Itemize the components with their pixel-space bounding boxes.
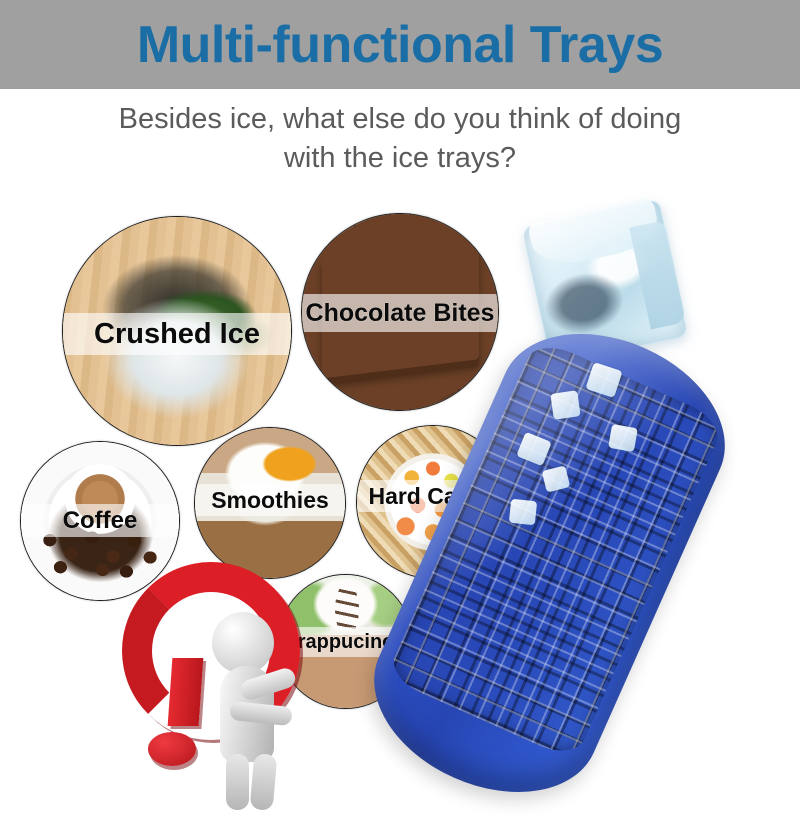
label-band: Crushed Ice (63, 313, 291, 355)
label-band: Coffee (21, 504, 179, 537)
page-title: Multi-functional Trays (137, 19, 663, 71)
loose-ice-cube (608, 424, 638, 452)
tray-wrap (392, 318, 800, 818)
subtitle-line-1: Besides ice, what else do you think of d… (50, 100, 750, 139)
label-band: Smoothies (195, 484, 345, 516)
question-mark-dot (148, 732, 196, 766)
header-band: Multi-functional Trays (0, 0, 800, 89)
use-case-crushed-ice[interactable]: Crushed Ice (62, 216, 292, 446)
silicone-mini-ice-cube-tray (347, 301, 753, 825)
thinking-person-figure (196, 612, 306, 802)
loose-ice-cube (550, 390, 580, 420)
subtitle-line-2: with the ice trays? (50, 139, 750, 178)
use-case-label: Coffee (63, 507, 138, 535)
figure-head (212, 612, 274, 674)
figure-leg-left (226, 754, 249, 810)
use-case-smoothies[interactable]: Smoothies (194, 427, 346, 579)
use-case-label: Smoothies (211, 487, 329, 514)
loose-ice-cube (509, 499, 537, 526)
subtitle: Besides ice, what else do you think of d… (50, 100, 750, 177)
infographic-page: Multi-functional Trays Besides ice, what… (0, 0, 800, 800)
figure-leg-right (250, 753, 278, 811)
use-case-label: Crushed Ice (94, 318, 260, 351)
